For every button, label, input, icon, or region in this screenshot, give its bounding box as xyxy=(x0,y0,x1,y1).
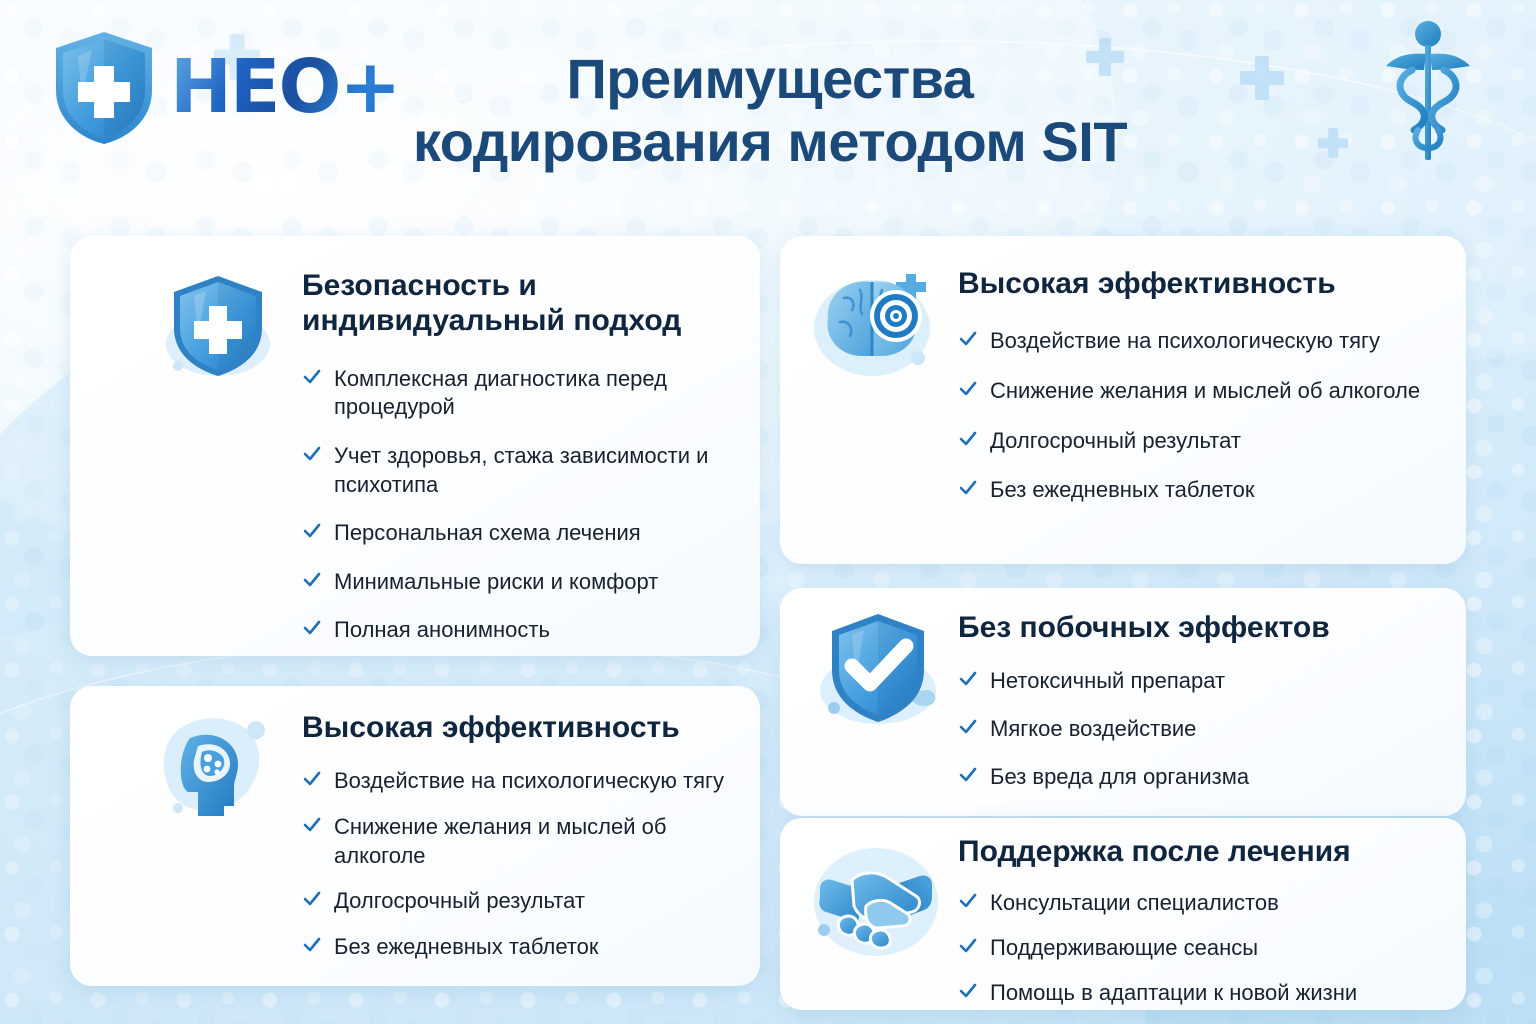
check-icon xyxy=(958,329,978,349)
list-item: Без вреда для организма xyxy=(958,763,1436,792)
benefit-list: Консультации специалистов Поддерживающие… xyxy=(958,889,1436,1007)
list-item: Поддерживающие сеансы xyxy=(958,934,1436,963)
list-item: Минимальные риски и комфорт xyxy=(302,568,742,597)
head-brain-icon xyxy=(152,708,280,836)
check-icon xyxy=(958,669,978,689)
benefit-list: Комплексная диагностика перед процедурой… xyxy=(302,365,742,645)
benefit-list: Воздействие на психологическую тягу Сниж… xyxy=(302,767,742,961)
list-item: Помощь в адаптации к новой жизни xyxy=(958,979,1436,1008)
list-item: Полная анонимность xyxy=(302,616,742,645)
list-item-label: Воздействие на психологическую тягу xyxy=(334,768,724,793)
list-item-label: Долгосрочный результат xyxy=(990,428,1241,453)
list-item-label: Без вреда для организма xyxy=(990,764,1249,789)
list-item: Долгосрочный результат xyxy=(958,427,1436,456)
list-item: Консультации специалистов xyxy=(958,889,1436,918)
list-item: Долгосрочный результат xyxy=(302,887,742,916)
benefit-list: Нетоксичный препарат Мягкое воздействие … xyxy=(958,667,1436,791)
list-item-label: Минимальные риски и комфорт xyxy=(334,569,658,594)
benefit-card-safety: Безопасность и индивидуальный подход Ком… xyxy=(70,236,760,656)
check-icon xyxy=(958,936,978,956)
list-item-label: Персональная схема лечения xyxy=(334,520,641,545)
benefit-list: Воздействие на психологическую тягу Сниж… xyxy=(958,327,1436,504)
check-icon xyxy=(302,570,322,590)
benefit-card-efficiency-left: Высокая эффективность Воздействие на пси… xyxy=(70,686,760,986)
card-title: Высокая эффективность xyxy=(302,710,742,745)
check-icon xyxy=(302,889,322,909)
list-item-label: Учет здоровья, стажа зависимости и психо… xyxy=(334,443,708,497)
list-item-label: Помощь в адаптации к новой жизни xyxy=(990,980,1357,1005)
list-item-label: Полная анонимность xyxy=(334,617,550,642)
check-icon xyxy=(958,379,978,399)
list-item-label: Снижение желания и мыслей об алкоголе xyxy=(334,814,666,868)
list-item: Комплексная диагностика перед процедурой xyxy=(302,365,742,422)
title-line-2: кодирования методом SIT xyxy=(330,111,1210,174)
check-icon xyxy=(958,981,978,1001)
shield-check-icon xyxy=(810,604,946,736)
check-icon xyxy=(302,367,322,387)
list-item: Снижение желания и мыслей об алкоголе xyxy=(302,813,742,870)
handshake-icon xyxy=(806,836,946,968)
check-icon xyxy=(958,891,978,911)
list-item-label: Снижение желания и мыслей об алкоголе xyxy=(990,378,1420,403)
list-item-label: Долгосрочный результат xyxy=(334,888,585,913)
page-title: Преимущества кодирования методом SIT xyxy=(330,48,1210,173)
check-icon xyxy=(302,618,322,638)
list-item: Без ежедневных таблеток xyxy=(958,476,1436,505)
list-item: Без ежедневных таблеток xyxy=(302,933,742,962)
list-item: Воздействие на психологическую тягу xyxy=(302,767,742,796)
list-item-label: Воздействие на психологическую тягу xyxy=(990,328,1380,353)
list-item-label: Комплексная диагностика перед процедурой xyxy=(334,366,667,420)
list-item: Персональная схема лечения xyxy=(302,519,742,548)
title-line-1: Преимущества xyxy=(330,48,1210,111)
benefit-card-support: Поддержка после лечения Консультации спе… xyxy=(780,818,1466,1010)
list-item-label: Консультации специалистов xyxy=(990,890,1279,915)
check-icon xyxy=(958,717,978,737)
list-item-label: Без ежедневных таблеток xyxy=(990,477,1255,502)
caduceus-icon xyxy=(1382,18,1474,168)
check-icon xyxy=(302,769,322,789)
list-item: Мягкое воздействие xyxy=(958,715,1436,744)
check-icon xyxy=(302,935,322,955)
benefit-card-no-side-effects: Без побочных эффектов Нетоксичный препар… xyxy=(780,588,1466,816)
shield-cross-icon xyxy=(48,28,160,146)
list-item-label: Мягкое воздействие xyxy=(990,716,1196,741)
check-icon xyxy=(302,815,322,835)
check-icon xyxy=(958,478,978,498)
card-title: Без побочных эффектов xyxy=(958,610,1436,645)
check-icon xyxy=(302,444,322,464)
card-title: Высокая эффективность xyxy=(958,266,1436,301)
check-icon xyxy=(958,429,978,449)
list-item-label: Поддерживающие сеансы xyxy=(990,935,1258,960)
shield-cross-icon xyxy=(158,266,278,386)
card-title: Поддержка после лечения xyxy=(958,834,1436,869)
list-item-label: Нетоксичный препарат xyxy=(990,668,1225,693)
infographic-poster: НЕО+ Преимущества кодирования методом SI… xyxy=(0,0,1536,1024)
list-item-label: Без ежедневных таблеток xyxy=(334,934,599,959)
poster-header: НЕО+ Преимущества кодирования методом SI… xyxy=(0,0,1536,210)
list-item: Учет здоровья, стажа зависимости и психо… xyxy=(302,442,742,499)
list-item: Снижение желания и мыслей об алкоголе xyxy=(958,377,1436,406)
check-icon xyxy=(958,765,978,785)
brain-target-icon xyxy=(806,258,942,388)
check-icon xyxy=(302,521,322,541)
card-title: Безопасность и индивидуальный подход xyxy=(302,268,742,339)
benefit-card-efficiency-right: Высокая эффективность Воздействие на пси… xyxy=(780,236,1466,564)
list-item: Нетоксичный препарат xyxy=(958,667,1436,696)
list-item: Воздействие на психологическую тягу xyxy=(958,327,1436,356)
